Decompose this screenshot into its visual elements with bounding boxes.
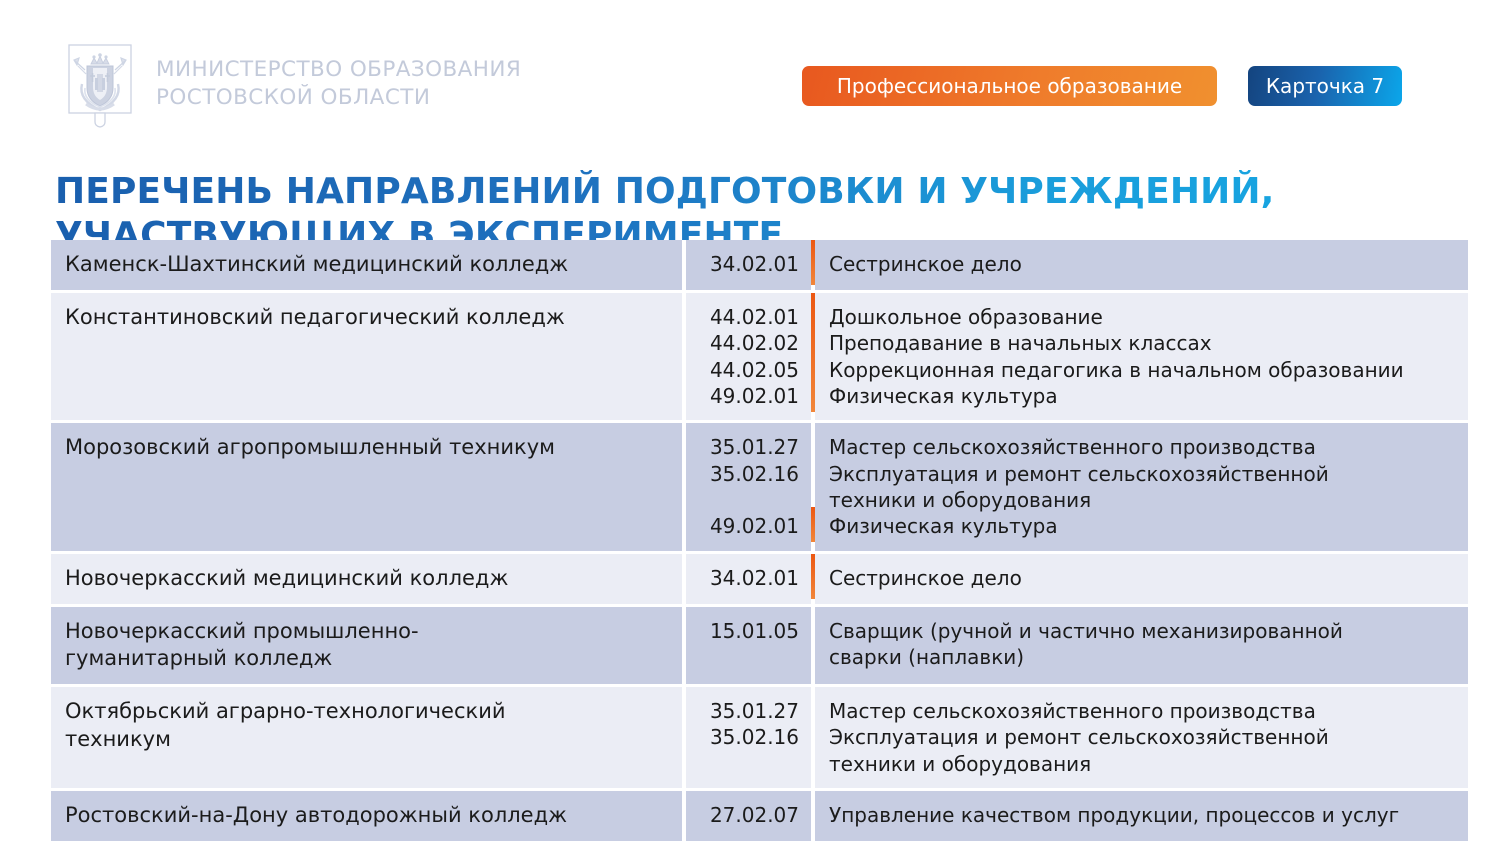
accent-rule <box>811 607 815 684</box>
program-codes: 34.02.01 <box>686 554 811 604</box>
accent-rule <box>811 554 815 604</box>
program-specialties: Управление качеством продукции, процессо… <box>815 791 1468 841</box>
program-codes: 15.01.05 <box>686 607 811 684</box>
badge-professional-education[interactable]: Профессиональное образование <box>802 66 1217 106</box>
program-codes: 27.02.07 <box>686 791 811 841</box>
organization-name: Новочеркасский промышленно- гуманитарный… <box>51 607 682 684</box>
accent-bar <box>811 240 815 285</box>
program-specialties: Дошкольное образование Преподавание в на… <box>815 293 1468 421</box>
organization-name: Октябрьский аграрно-технологический техн… <box>51 687 682 788</box>
badge-card-number[interactable]: Карточка 7 <box>1248 66 1402 106</box>
programs-table: Каменск-Шахтинский медицинский колледж34… <box>51 240 1468 844</box>
accent-rule <box>811 791 815 841</box>
accent-bar <box>811 507 815 542</box>
accent-bar <box>811 293 815 412</box>
accent-bar <box>811 554 815 599</box>
organization-name: Новочеркасский медицинский колледж <box>51 554 682 604</box>
program-specialties: Сестринское дело <box>815 554 1468 604</box>
table-row: Константиновский педагогический колледж4… <box>51 293 1468 421</box>
program-codes: 44.02.01 44.02.02 44.02.05 49.02.01 <box>686 293 811 421</box>
table-row: Октябрьский аграрно-технологический техн… <box>51 687 1468 788</box>
table-row: Каменск-Шахтинский медицинский колледж34… <box>51 240 1468 290</box>
organization-name: Каменск-Шахтинский медицинский колледж <box>51 240 682 290</box>
program-codes: 34.02.01 <box>686 240 811 290</box>
accent-rule <box>811 687 815 788</box>
program-specialties: Мастер сельскохозяйственного производств… <box>815 423 1468 551</box>
program-specialties: Мастер сельскохозяйственного производств… <box>815 687 1468 788</box>
program-codes: 35.01.27 35.02.16 49.02.01 <box>686 423 811 551</box>
ministry-brand: МИНИСТЕРСТВО ОБРАЗОВАНИЯ РОСТОВСКОЙ ОБЛА… <box>68 44 521 128</box>
program-specialties: Сестринское дело <box>815 240 1468 290</box>
table-row: Новочеркасский промышленно- гуманитарный… <box>51 607 1468 684</box>
accent-rule <box>811 293 815 421</box>
accent-rule <box>811 423 815 551</box>
program-codes: 35.01.27 35.02.16 <box>686 687 811 788</box>
table-row: Ростовский-на-Дону автодорожный колледж2… <box>51 791 1468 841</box>
table-row: Новочеркасский медицинский колледж34.02.… <box>51 554 1468 604</box>
ministry-name: МИНИСТЕРСТВО ОБРАЗОВАНИЯ РОСТОВСКОЙ ОБЛА… <box>156 56 521 111</box>
page-header: МИНИСТЕРСТВО ОБРАЗОВАНИЯ РОСТОВСКОЙ ОБЛА… <box>0 0 1500 140</box>
organization-name: Ростовский-на-Дону автодорожный колледж <box>51 791 682 841</box>
organization-name: Константиновский педагогический колледж <box>51 293 682 421</box>
organization-name: Морозовский агропромышленный техникум <box>51 423 682 551</box>
coat-of-arms-icon <box>68 44 132 128</box>
program-specialties: Сварщик (ручной и частично механизирован… <box>815 607 1468 684</box>
table-row: Морозовский агропромышленный техникум35.… <box>51 423 1468 551</box>
accent-rule <box>811 240 815 290</box>
